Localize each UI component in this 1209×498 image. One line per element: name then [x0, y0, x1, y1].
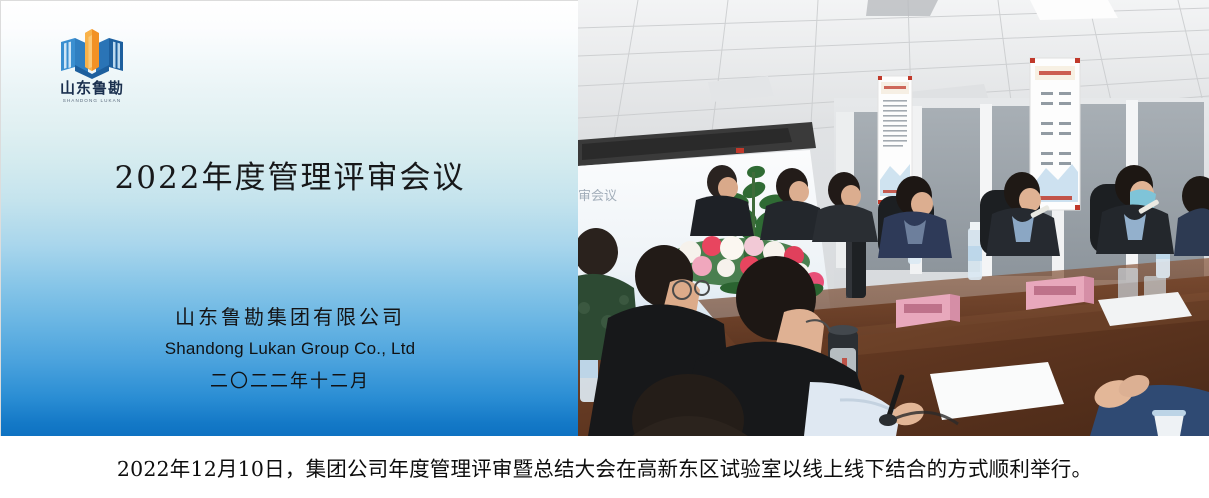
company-logo: 山东鲁勘 SHANDONG LUKAN [49, 27, 135, 103]
projected-slide-title: 审会议 [578, 189, 617, 204]
logo-english-name: SHANDONG LUKAN [49, 98, 135, 103]
open-book-mountain-logo-icon [57, 27, 127, 79]
title-slide: 山东鲁勘 SHANDONG LUKAN 2022年度管理评审会议 山东鲁勘集团有… [0, 0, 578, 436]
slide-date: 二〇二二年十二月 [1, 373, 578, 391]
meeting-photo-illustration: 审会议 限公司 Co., Ltd [578, 0, 1209, 436]
slide-footer: 山东鲁勘集团有限公司 Shandong Lukan Group Co., Ltd… [1, 307, 578, 391]
organization-name-cn: 山东鲁勘集团有限公司 [1, 307, 578, 327]
slide-title: 2022年度管理评审会议 [1, 152, 578, 197]
caption-bar: 2022年12月10日，集团公司年度管理评审暨总结大会在高新东区试验室以线上线下… [0, 436, 1209, 498]
meeting-photo: 审会议 限公司 Co., Ltd [578, 0, 1209, 436]
top-row: 山东鲁勘 SHANDONG LUKAN 2022年度管理评审会议 山东鲁勘集团有… [0, 0, 1209, 436]
caption-text: 2022年12月10日，集团公司年度管理评审暨总结大会在高新东区试验室以线上线下… [117, 452, 1092, 482]
slide-with-caption-page: 山东鲁勘 SHANDONG LUKAN 2022年度管理评审会议 山东鲁勘集团有… [0, 0, 1209, 498]
logo-chinese-name: 山东鲁勘 [49, 81, 135, 97]
organization-name-en: Shandong Lukan Group Co., Ltd [1, 340, 578, 357]
